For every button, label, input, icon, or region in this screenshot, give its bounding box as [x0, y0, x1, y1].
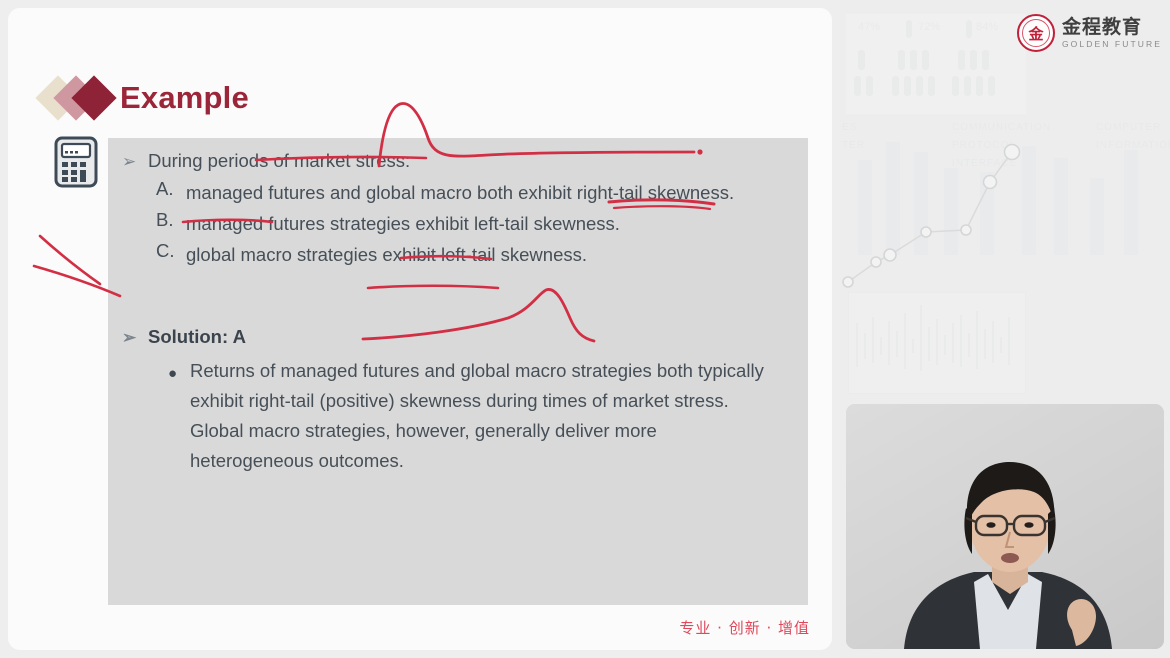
brand-name-cn: 金程教育: [1062, 18, 1162, 37]
option-text: global macro strategies exhibit left-tai…: [186, 240, 796, 270]
slide-content-panel: ➢ During periods of market stress: A. ma…: [108, 138, 808, 605]
answer-options-list: A. managed futures and global macro both…: [156, 178, 796, 271]
answer-option-b[interactable]: B. managed futures strategies exhibit le…: [156, 209, 796, 239]
decor-word-computer: COMPUTER: [1096, 122, 1161, 133]
solution-heading-row: ➢ Solution: A: [122, 326, 246, 348]
decor-word-ter: TER: [842, 140, 865, 151]
decor-people-infographic: 47% 72% 84%: [846, 14, 1026, 114]
eye-left: [986, 522, 995, 528]
solution-explanation-row: ● Returns of managed futures and global …: [168, 356, 780, 476]
instructor-video-tile[interactable]: [846, 404, 1164, 649]
dot-bullet-icon: ●: [168, 356, 190, 476]
decor-word-communication: COMMUNICATION: [952, 122, 1051, 133]
seal-icon: 金: [1017, 14, 1055, 52]
screen-root: Example ➢ Dur: [0, 0, 1170, 658]
right-panel: 47% 72% 84%: [840, 0, 1170, 658]
decor-line-chart: ES TER COMMUNICATION PROTOCOL INTERFACE …: [840, 120, 1170, 300]
decor-word-information: INFORMATION: [1096, 140, 1170, 151]
question-stem-text: During periods of market stress:: [148, 150, 410, 172]
diamond-decoration: [42, 74, 116, 122]
brand-logo: 金 金程教育 GOLDEN FUTURE: [1017, 14, 1162, 52]
page-title: Example: [120, 80, 249, 116]
hair-side-left: [964, 508, 972, 554]
solution-label: Solution: A: [148, 326, 246, 348]
option-text: managed futures strategies exhibit left-…: [186, 209, 796, 239]
presentation-slide: Example ➢ Dur: [8, 8, 832, 650]
eye-right: [1024, 522, 1033, 528]
decor-percent-2: 84%: [976, 21, 998, 33]
decor-word-es: ES: [842, 122, 857, 133]
calculator-icon: [54, 136, 98, 188]
option-letter: B.: [156, 209, 186, 239]
hair-side-right: [1048, 508, 1056, 554]
decor-person-row-3: [854, 76, 995, 96]
slide-title-row: Example: [42, 70, 249, 126]
strike-option-b: [40, 236, 100, 284]
answer-option-c[interactable]: C. global macro strategies exhibit left-…: [156, 240, 796, 270]
decor-person-row-2: [858, 50, 989, 70]
brand-tagline: 专业 · 创新 · 增值: [679, 617, 810, 638]
brand-logo-text: 金程教育 GOLDEN FUTURE: [1062, 18, 1162, 49]
brand-name-en: GOLDEN FUTURE: [1062, 40, 1162, 49]
seal-glyph: 金: [1019, 16, 1053, 50]
arrow-bullet-icon: ➢: [122, 326, 148, 346]
answer-option-a[interactable]: A. managed futures and global macro both…: [156, 178, 796, 208]
decor-candlestick-chart: [848, 292, 1026, 394]
instructor-figure: [846, 404, 1164, 649]
option-text: managed futures and global macro both ex…: [186, 178, 796, 208]
mouth-shape: [1001, 553, 1019, 563]
arrow-bullet-icon: ➢: [122, 150, 148, 170]
decor-percent-0: 47%: [858, 21, 880, 33]
solution-explanation-text: Returns of managed futures and global ma…: [190, 356, 780, 476]
option-letter: A.: [156, 178, 186, 208]
option-letter: C.: [156, 240, 186, 270]
decor-percent-1: 72%: [918, 21, 940, 33]
question-stem-row: ➢ During periods of market stress:: [122, 150, 410, 172]
